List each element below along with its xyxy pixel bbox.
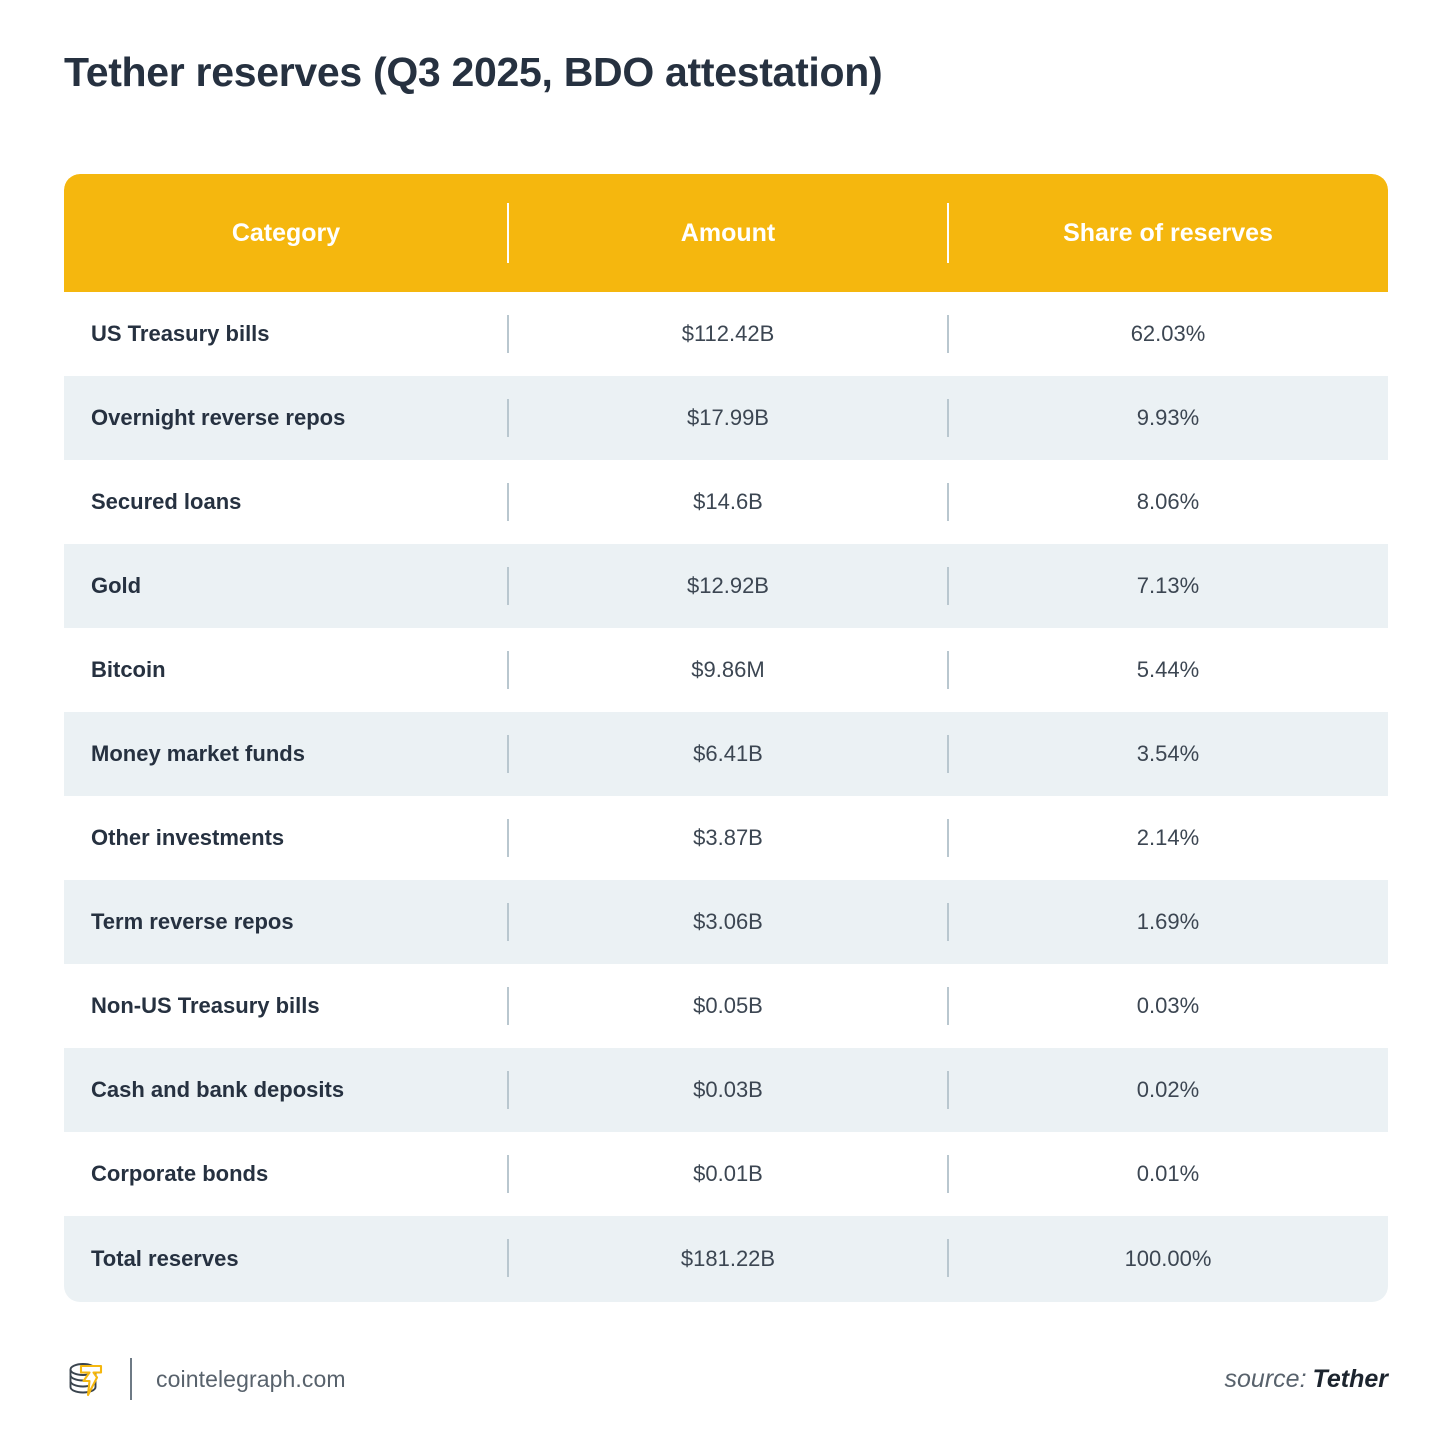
cell-share: 7.13%: [948, 573, 1388, 599]
cell-amount: $3.06B: [508, 909, 948, 935]
row-column-divider-1: [507, 315, 509, 353]
cell-category: US Treasury bills: [64, 321, 508, 347]
source-value: Tether: [1313, 1365, 1388, 1393]
cell-amount: $181.22B: [508, 1246, 948, 1272]
cell-amount: $3.87B: [508, 825, 948, 851]
row-column-divider-2: [947, 315, 949, 353]
row-column-divider-1: [507, 399, 509, 437]
cell-share: 2.14%: [948, 825, 1388, 851]
cell-amount: $9.86M: [508, 657, 948, 683]
cell-amount: $6.41B: [508, 741, 948, 767]
row-column-divider-2: [947, 651, 949, 689]
row-column-divider-1: [507, 819, 509, 857]
row-column-divider-2: [947, 567, 949, 605]
cell-category: Bitcoin: [64, 657, 508, 683]
cell-category: Money market funds: [64, 741, 508, 767]
footer-divider: [130, 1358, 132, 1400]
table-row: Money market funds$6.41B3.54%: [64, 712, 1388, 796]
footer: cointelegraph.com source:Tether: [64, 1343, 1388, 1415]
cell-category: Corporate bonds: [64, 1161, 508, 1187]
table-row: US Treasury bills$112.42B62.03%: [64, 292, 1388, 376]
row-column-divider-2: [947, 483, 949, 521]
row-column-divider-2: [947, 399, 949, 437]
cell-amount: $12.92B: [508, 573, 948, 599]
table-row: Gold$12.92B7.13%: [64, 544, 1388, 628]
header-column-divider-2: [947, 203, 949, 263]
footer-site-url[interactable]: cointelegraph.com: [156, 1366, 346, 1393]
table-row: Other investments$3.87B2.14%: [64, 796, 1388, 880]
row-column-divider-1: [507, 987, 509, 1025]
row-column-divider-1: [507, 735, 509, 773]
table-row: Cash and bank deposits$0.03B0.02%: [64, 1048, 1388, 1132]
table-row: Secured loans$14.6B8.06%: [64, 460, 1388, 544]
cell-category: Non-US Treasury bills: [64, 993, 508, 1019]
table-row: Bitcoin$9.86M5.44%: [64, 628, 1388, 712]
reserves-table: Category Amount Share of reserves US Tre…: [64, 174, 1388, 1302]
cointelegraph-logo-icon: [64, 1357, 108, 1401]
cell-amount: $0.03B: [508, 1077, 948, 1103]
table-header-row: Category Amount Share of reserves: [64, 174, 1388, 292]
row-column-divider-2: [947, 903, 949, 941]
footer-source: source:Tether: [1225, 1365, 1388, 1394]
cell-share: 0.03%: [948, 993, 1388, 1019]
row-column-divider-1: [507, 1071, 509, 1109]
cell-amount: $14.6B: [508, 489, 948, 515]
cell-share: 5.44%: [948, 657, 1388, 683]
cell-category: Other investments: [64, 825, 508, 851]
cell-category: Total reserves: [64, 1246, 508, 1272]
cell-share: 9.93%: [948, 405, 1388, 431]
cell-amount: $0.01B: [508, 1161, 948, 1187]
cell-share: 100.00%: [948, 1246, 1388, 1272]
cell-share: 0.01%: [948, 1161, 1388, 1187]
column-header-category: Category: [64, 219, 508, 248]
column-header-amount: Amount: [508, 219, 948, 248]
row-column-divider-2: [947, 1071, 949, 1109]
row-column-divider-1: [507, 903, 509, 941]
infographic-page: Tether reserves (Q3 2025, BDO attestatio…: [0, 0, 1450, 1455]
row-column-divider-2: [947, 819, 949, 857]
row-column-divider-2: [947, 987, 949, 1025]
cell-share: 8.06%: [948, 489, 1388, 515]
cell-share: 1.69%: [948, 909, 1388, 935]
table-row: Corporate bonds$0.01B0.01%: [64, 1132, 1388, 1216]
cell-amount: $112.42B: [508, 321, 948, 347]
header-column-divider-1: [507, 203, 509, 263]
row-column-divider-1: [507, 651, 509, 689]
cell-amount: $0.05B: [508, 993, 948, 1019]
cell-category: Gold: [64, 573, 508, 599]
row-column-divider-1: [507, 567, 509, 605]
table-row: Total reserves$181.22B100.00%: [64, 1216, 1388, 1302]
row-column-divider-2: [947, 735, 949, 773]
row-column-divider-1: [507, 483, 509, 521]
page-title: Tether reserves (Q3 2025, BDO attestatio…: [64, 48, 1364, 97]
footer-branding: cointelegraph.com: [64, 1357, 346, 1401]
column-header-share: Share of reserves: [948, 219, 1388, 248]
cell-share: 3.54%: [948, 741, 1388, 767]
row-column-divider-2: [947, 1239, 949, 1277]
table-row: Overnight reverse repos$17.99B9.93%: [64, 376, 1388, 460]
row-column-divider-1: [507, 1155, 509, 1193]
cell-amount: $17.99B: [508, 405, 948, 431]
cell-share: 62.03%: [948, 321, 1388, 347]
cell-category: Cash and bank deposits: [64, 1077, 508, 1103]
row-column-divider-1: [507, 1239, 509, 1277]
table-row: Term reverse repos$3.06B1.69%: [64, 880, 1388, 964]
cell-share: 0.02%: [948, 1077, 1388, 1103]
table-body: US Treasury bills$112.42B62.03%Overnight…: [64, 292, 1388, 1302]
source-label: source:: [1225, 1365, 1307, 1393]
row-column-divider-2: [947, 1155, 949, 1193]
cell-category: Secured loans: [64, 489, 508, 515]
cell-category: Term reverse repos: [64, 909, 508, 935]
table-row: Non-US Treasury bills$0.05B0.03%: [64, 964, 1388, 1048]
cell-category: Overnight reverse repos: [64, 405, 508, 431]
